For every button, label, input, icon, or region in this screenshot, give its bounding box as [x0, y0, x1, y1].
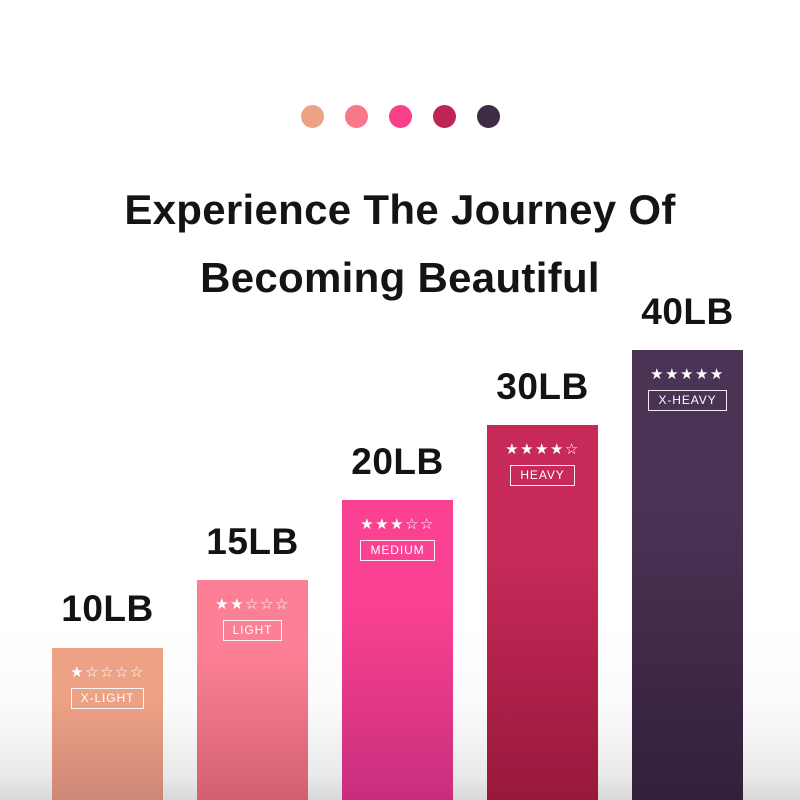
bar-40lb-star-rating-icon: ★★★★★ [650, 367, 725, 382]
bar-15lb-column[interactable]: ★★☆☆☆LIGHT [197, 580, 308, 800]
bar-30lb[interactable]: 30LB★★★★☆HEAVY [487, 366, 598, 800]
bar-10lb-level-badge: X-LIGHT [71, 688, 145, 709]
bar-15lb-level-badge: LIGHT [223, 620, 283, 641]
bar-10lb-star-rating-icon: ★☆☆☆☆ [70, 665, 145, 680]
bar-40lb[interactable]: 40LB★★★★★X-HEAVY [632, 291, 743, 800]
bar-30lb-star-rating-icon: ★★★★☆ [505, 442, 580, 457]
bar-15lb-star-rating-icon: ★★☆☆☆ [215, 597, 290, 612]
bar-40lb-level-badge: X-HEAVY [648, 390, 726, 411]
bar-10lb-column[interactable]: ★☆☆☆☆X-LIGHT [52, 648, 163, 800]
bar-30lb-column[interactable]: ★★★★☆HEAVY [487, 425, 598, 800]
bar-15lb-info: ★★☆☆☆LIGHT [197, 597, 308, 641]
bar-20lb-level-badge: MEDIUM [360, 540, 434, 561]
bar-15lb[interactable]: 15LB★★☆☆☆LIGHT [197, 521, 308, 800]
bar-10lb[interactable]: 10LB★☆☆☆☆X-LIGHT [52, 588, 163, 800]
bar-15lb-weight-label: 15LB [197, 521, 308, 563]
bar-20lb-info: ★★★☆☆MEDIUM [342, 517, 453, 561]
bar-40lb-column[interactable]: ★★★★★X-HEAVY [632, 350, 743, 800]
bar-40lb-info: ★★★★★X-HEAVY [632, 367, 743, 411]
bar-40lb-weight-label: 40LB [632, 291, 743, 333]
bar-20lb-weight-label: 20LB [342, 441, 453, 483]
bar-10lb-info: ★☆☆☆☆X-LIGHT [52, 665, 163, 709]
bar-20lb-star-rating-icon: ★★★☆☆ [360, 517, 435, 532]
bar-30lb-info: ★★★★☆HEAVY [487, 442, 598, 486]
bar-20lb[interactable]: 20LB★★★☆☆MEDIUM [342, 441, 453, 800]
resistance-band-bar-chart: 10LB★☆☆☆☆X-LIGHT15LB★★☆☆☆LIGHT20LB★★★☆☆M… [0, 0, 800, 800]
bar-10lb-weight-label: 10LB [52, 588, 163, 630]
poster-root: Experience The Journey Of Becoming Beaut… [0, 0, 800, 800]
bar-20lb-column[interactable]: ★★★☆☆MEDIUM [342, 500, 453, 800]
bar-30lb-level-badge: HEAVY [510, 465, 574, 486]
bar-30lb-weight-label: 30LB [487, 366, 598, 408]
